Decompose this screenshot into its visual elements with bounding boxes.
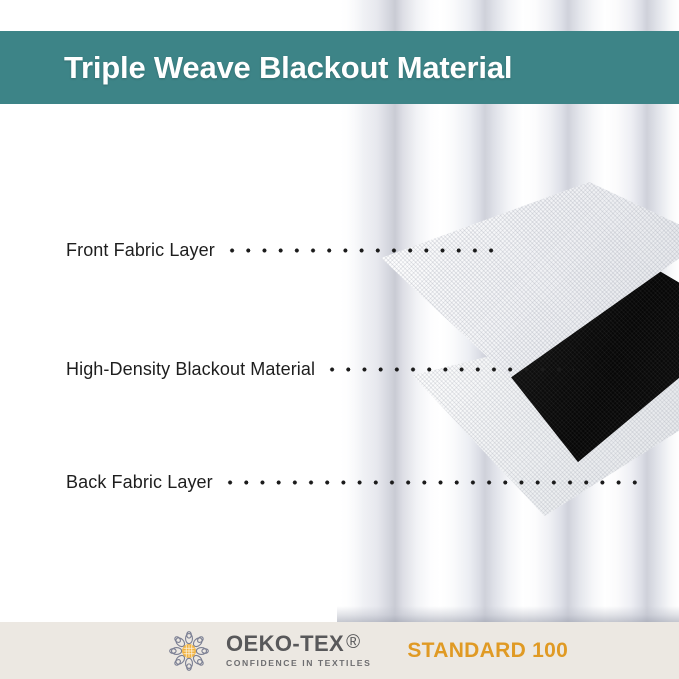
registered-mark-icon: ® [346,633,360,652]
leader-dots [222,480,642,485]
oeko-tex-flower-icon [166,628,212,674]
callout-front-fabric-layer: Front Fabric Layer [66,238,504,262]
callout-label: Back Fabric Layer [66,472,213,493]
cert-name-row: OEKO-TEX® [226,633,371,655]
curtain-hem-shadow [337,606,679,622]
cert-name: OEKO-TEX [226,633,344,655]
oeko-tex-badge: OEKO-TEX® CONFIDENCE IN TEXTILES STANDAR… [166,628,568,674]
leader-dots [324,367,574,372]
callout-back-fabric-layer: Back Fabric Layer [66,470,642,494]
product-infographic: Triple Weave Blackout Material Front Fab… [0,0,679,679]
callout-label: Front Fabric Layer [66,240,215,261]
banner-title: Triple Weave Blackout Material [64,50,512,86]
callout-label: High-Density Blackout Material [66,359,315,380]
cert-standard-label: STANDARD 100 [407,639,568,663]
leader-dots [224,248,504,253]
callout-high-density-blackout-material: High-Density Blackout Material [66,357,574,381]
certification-footer: OEKO-TEX® CONFIDENCE IN TEXTILES STANDAR… [0,622,679,679]
header-banner: Triple Weave Blackout Material [0,31,679,104]
cert-tagline: CONFIDENCE IN TEXTILES [226,658,371,668]
oeko-tex-wordmark: OEKO-TEX® CONFIDENCE IN TEXTILES [226,633,371,668]
